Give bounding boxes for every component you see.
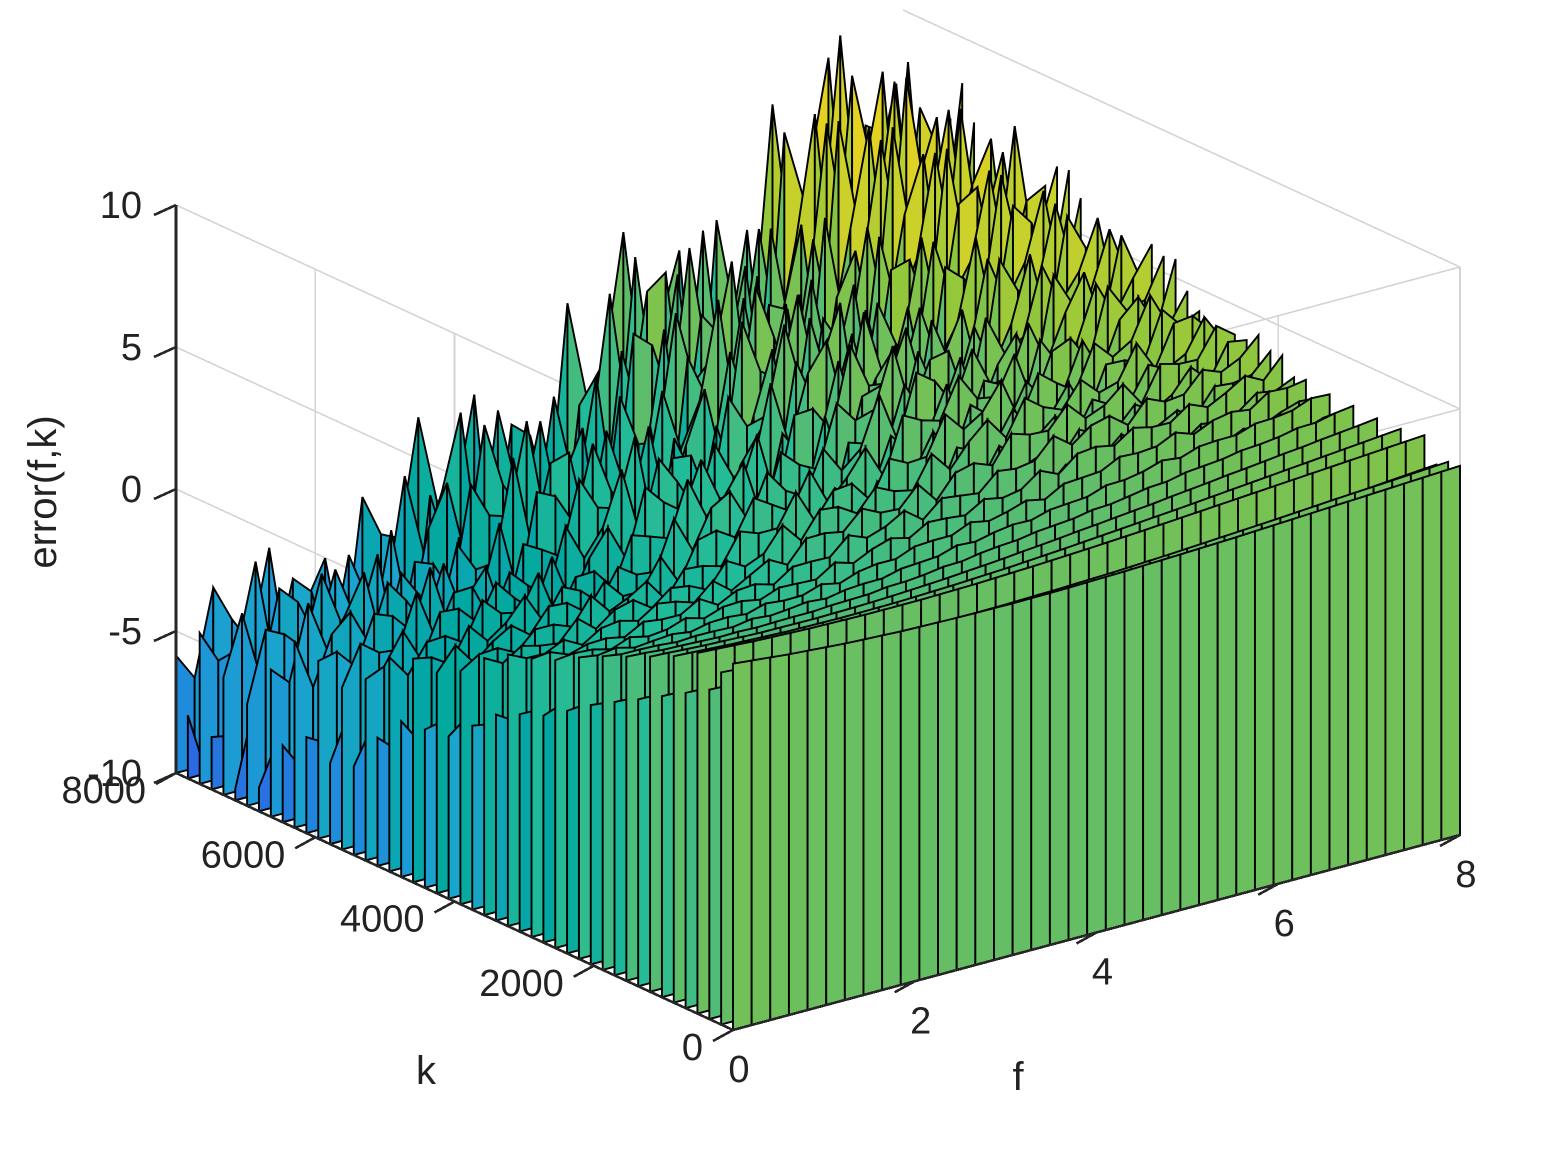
axis-tick-label: 2000 (479, 963, 564, 1005)
y-axis-title: f (1012, 1055, 1024, 1099)
axis-tick-label: 5 (121, 327, 142, 369)
z-axis-title: error(f,k) (21, 415, 65, 568)
axis-tick-label: 8 (1455, 854, 1476, 896)
axis-tick-label: 6000 (201, 834, 286, 876)
axis-tick-label: 0 (682, 1027, 703, 1069)
waterfall-3d-plot: -10-505100200040006000800002468 error(f,… (0, 0, 1557, 1164)
x-axis-title: k (416, 1049, 437, 1093)
axis-tick-label: 10 (100, 185, 142, 227)
axis-tick-label: 4 (1092, 952, 1113, 994)
axis-tick-label: 4000 (340, 899, 425, 941)
axis-tick-label: 8000 (61, 770, 146, 812)
axis-tick-label: 6 (1274, 903, 1295, 945)
waterfall-surface (176, 35, 1460, 1030)
figure-canvas: -10-505100200040006000800002468 error(f,… (0, 0, 1557, 1164)
axis-tick-label: 0 (121, 469, 142, 511)
axis-tick-label: 0 (728, 1049, 749, 1091)
axis-tick-label: 2 (910, 1000, 931, 1042)
axis-tick-label: -5 (108, 611, 142, 653)
